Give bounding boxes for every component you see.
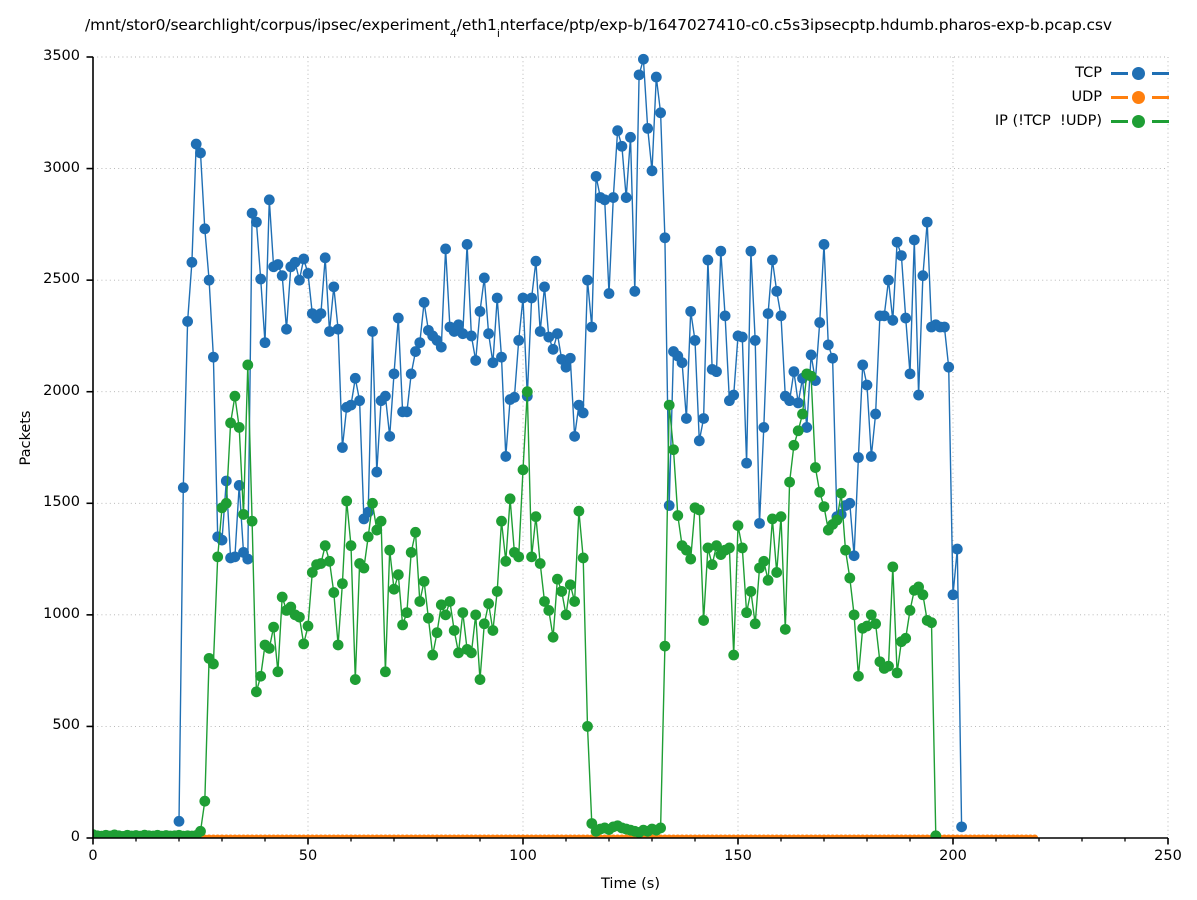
figure-canvas: /mnt/stor0/searchlight/corpus/ipsec/expe… (0, 0, 1197, 900)
axis-spines (93, 57, 1168, 838)
chart-legend: TCPUDPIP (!TCP !UDP) (995, 62, 1169, 132)
gridlines (93, 57, 1168, 838)
legend-entry[interactable]: TCP (1075, 62, 1169, 84)
legend-marker-icon (1111, 113, 1169, 129)
legend-marker-icon (1111, 89, 1169, 105)
data-layer (88, 0, 1041, 842)
legend-label: TCP (1075, 65, 1102, 81)
series-ip (88, 0, 1041, 842)
legend-marker-icon (1111, 65, 1169, 81)
legend-label: IP (!TCP !UDP) (995, 113, 1102, 129)
legend-label: UDP (1071, 89, 1102, 105)
legend-entry[interactable]: IP (!TCP !UDP) (995, 110, 1169, 132)
plot-area (0, 0, 1197, 900)
series-tcp (174, 0, 1019, 832)
legend-entry[interactable]: UDP (1071, 86, 1169, 108)
